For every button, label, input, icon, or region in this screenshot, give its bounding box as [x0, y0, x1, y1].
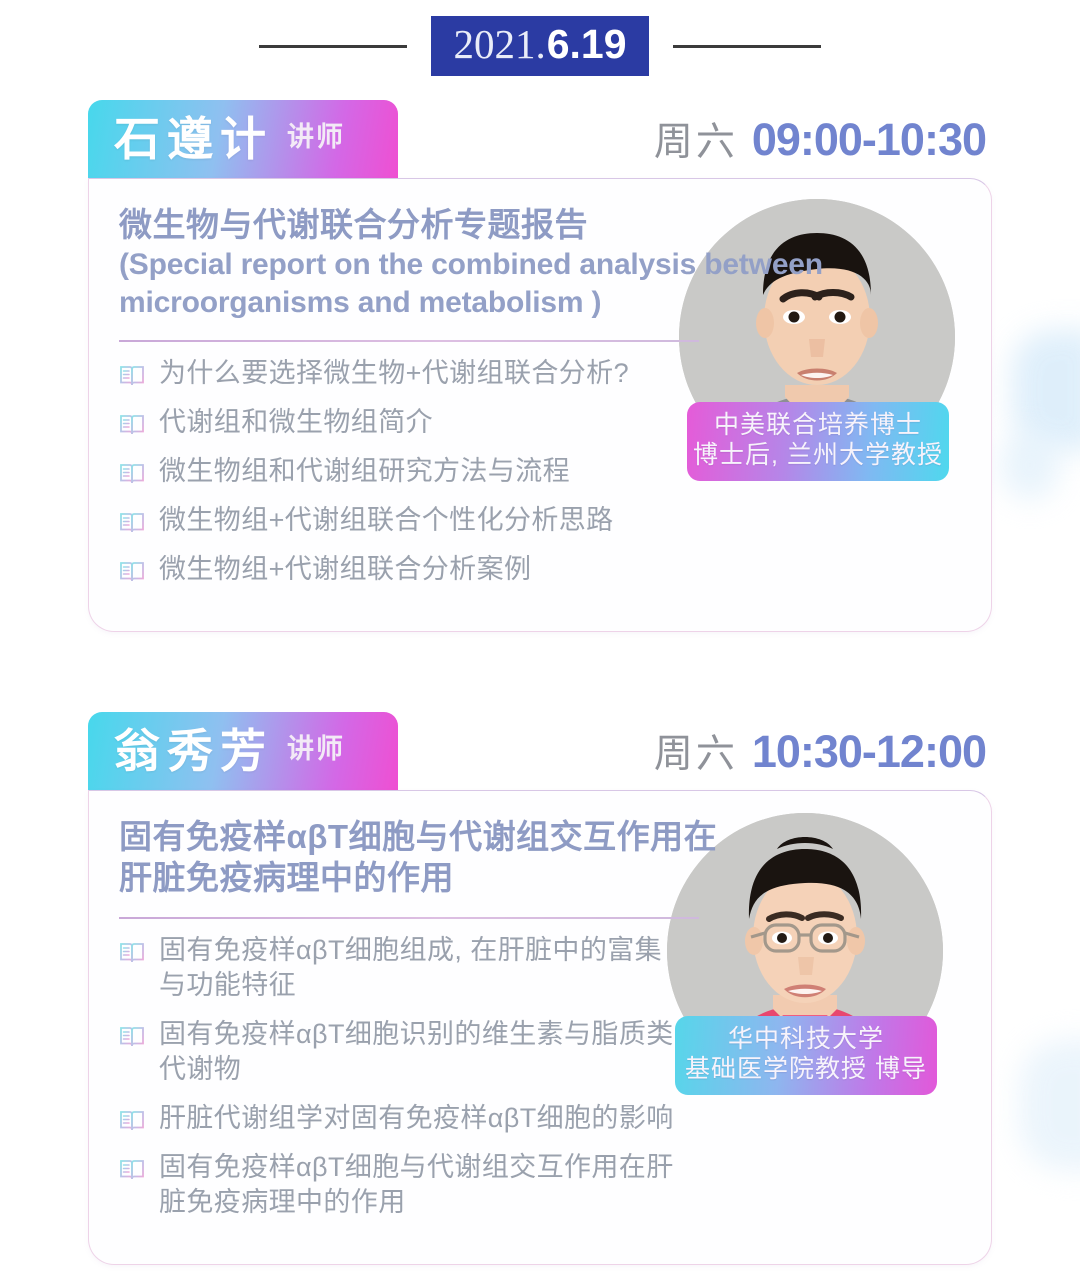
speaker-caption-badge: 中美联合培养博士 博士后, 兰州大学教授 [687, 402, 949, 481]
caption-line: 中美联合培养博士 [687, 411, 949, 441]
topic-text: 固有免疫样αβT细胞与代谢组交互作用在肝脏免疫病理中的作用 [159, 1150, 679, 1220]
session-card: 微生物与代谢联合分析专题报告 (Special report on the co… [88, 178, 992, 632]
topic-item: 代谢组和微生物组简介 [119, 405, 679, 440]
topic-item: 微生物组+代谢组联合分析案例 [119, 552, 679, 587]
background-blob-top-right [1012, 330, 1080, 450]
talk-title-cn: 固有免疫样αβT细胞与代谢组交互作用在肝脏免疫病理中的作用 [119, 817, 719, 899]
open-book-icon [119, 461, 145, 487]
topic-item: 固有免疫样αβT细胞与代谢组交互作用在肝脏免疫病理中的作用 [119, 1150, 679, 1220]
topic-item: 固有免疫样αβT细胞识别的维生素与脂质类代谢物 [119, 1017, 679, 1087]
open-book-icon [119, 1024, 145, 1050]
title-divider [119, 340, 699, 342]
open-book-icon [119, 559, 145, 585]
topic-text: 固有免疫样αβT细胞组成, 在肝脏中的富集与功能特征 [159, 933, 679, 1003]
topic-text: 微生物组+代谢组联合个性化分析思路 [159, 503, 614, 538]
speaker-name-badge: 翁秀芳 讲师 [88, 712, 398, 790]
session-time-range: 10:30-12:00 [752, 726, 986, 778]
speaker-name: 翁秀芳 [114, 728, 273, 774]
topic-text: 肝脏代谢组学对固有免疫样αβT细胞的影响 [159, 1101, 674, 1136]
session-block: 石遵计 讲师 周六 09:00-10:30 微生物与代谢联合分析专题报告 (Sp… [88, 100, 992, 632]
title-divider [119, 917, 699, 919]
session-time: 周六 10:30-12:00 [654, 723, 992, 779]
topic-item: 固有免疫样αβT细胞组成, 在肝脏中的富集与功能特征 [119, 933, 679, 1003]
header-rule-right [673, 45, 821, 48]
speaker-name-badge: 石遵计 讲师 [88, 100, 398, 178]
open-book-icon [119, 1157, 145, 1183]
open-book-icon [119, 510, 145, 536]
background-blob-bottom-right [1020, 1040, 1080, 1170]
topic-list: 固有免疫样αβT细胞组成, 在肝脏中的富集与功能特征固有免疫样αβT细胞识别的维… [119, 933, 679, 1221]
session-card: 固有免疫样αβT细胞与代谢组交互作用在肝脏免疫病理中的作用 固有免疫样αβT细胞… [88, 790, 992, 1265]
date-chip: 2021. 6.19 [431, 16, 648, 76]
session-weekday: 周六 [654, 111, 738, 167]
topic-item: 为什么要选择微生物+代谢组联合分析? [119, 356, 679, 391]
date-day: 6.19 [547, 24, 627, 65]
date-header: 2021. 6.19 [0, 0, 1080, 92]
session-time: 周六 09:00-10:30 [654, 111, 992, 167]
talk-title-cn: 微生物与代谢联合分析专题报告 [119, 205, 719, 246]
topic-text: 微生物组+代谢组联合分析案例 [159, 552, 531, 587]
topic-text: 固有免疫样αβT细胞识别的维生素与脂质类代谢物 [159, 1017, 679, 1087]
open-book-icon [119, 940, 145, 966]
session-time-range: 09:00-10:30 [752, 114, 986, 166]
topic-text: 微生物组和代谢组研究方法与流程 [159, 454, 570, 489]
topic-item: 微生物组和代谢组研究方法与流程 [119, 454, 679, 489]
session-header: 石遵计 讲师 周六 09:00-10:30 [88, 100, 992, 178]
talk-title-en: (Special report on the combined analysis… [119, 246, 961, 322]
header-rule-left [259, 45, 407, 48]
open-book-icon [119, 363, 145, 389]
topic-list: 为什么要选择微生物+代谢组联合分析?代谢组和微生物组简介微生物组和代谢组研究方法… [119, 356, 679, 587]
session-header: 翁秀芳 讲师 周六 10:30-12:00 [88, 712, 992, 790]
speaker-role: 讲师 [287, 124, 345, 155]
speaker-caption-badge: 华中科技大学 基础医学院教授 博导 [675, 1016, 937, 1095]
topic-text: 为什么要选择微生物+代谢组联合分析? [159, 356, 629, 391]
session-block: 翁秀芳 讲师 周六 10:30-12:00 固有免疫样αβT细胞与代谢组交互作用… [88, 712, 992, 1265]
topic-item: 微生物组+代谢组联合个性化分析思路 [119, 503, 679, 538]
speaker-name: 石遵计 [114, 116, 273, 162]
open-book-icon [119, 1108, 145, 1134]
background-blob-right [1000, 430, 1060, 500]
open-book-icon [119, 412, 145, 438]
caption-line: 博士后, 兰州大学教授 [687, 441, 949, 471]
caption-line: 华中科技大学 [675, 1025, 937, 1055]
date-year: 2021. [453, 24, 545, 65]
topic-text: 代谢组和微生物组简介 [159, 405, 433, 440]
caption-line: 基础医学院教授 博导 [675, 1055, 937, 1085]
session-weekday: 周六 [654, 723, 738, 779]
topic-item: 肝脏代谢组学对固有免疫样αβT细胞的影响 [119, 1101, 679, 1136]
speaker-role: 讲师 [287, 736, 345, 767]
